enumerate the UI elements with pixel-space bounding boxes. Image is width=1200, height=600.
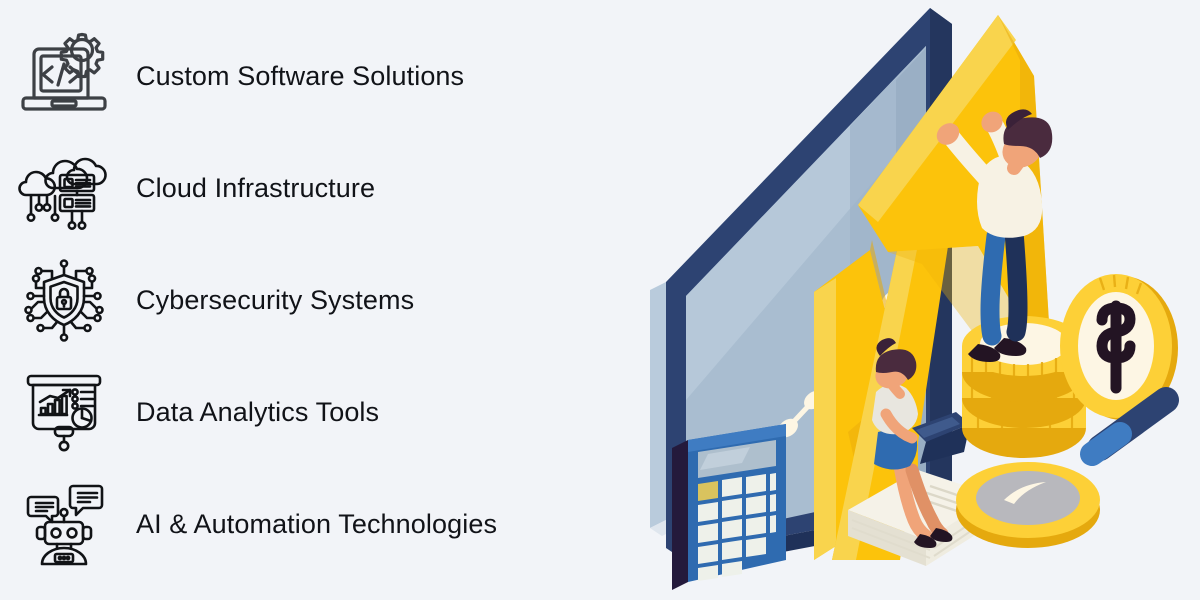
feature-label: Cybersecurity Systems bbox=[136, 285, 414, 316]
presentation-chart-icon bbox=[10, 362, 118, 462]
laptop-code-gear-icon bbox=[10, 26, 118, 126]
feature-item-cybersecurity[interactable]: Cybersecurity Systems bbox=[10, 244, 600, 356]
feature-item-data-analytics[interactable]: Data Analytics Tools bbox=[10, 356, 600, 468]
isometric-business-growth-illustration bbox=[600, 0, 1200, 600]
feature-label: AI & Automation Technologies bbox=[136, 509, 497, 540]
feature-label: Custom Software Solutions bbox=[136, 61, 464, 92]
feature-item-cloud-infrastructure[interactable]: Cloud Infrastructure bbox=[10, 132, 600, 244]
feature-item-custom-software[interactable]: Custom Software Solutions bbox=[10, 20, 600, 132]
feature-label: Data Analytics Tools bbox=[136, 397, 379, 428]
chatbot-robot-icon bbox=[10, 474, 118, 574]
cloud-server-icon bbox=[10, 138, 118, 238]
feature-item-ai-automation[interactable]: AI & Automation Technologies bbox=[10, 468, 600, 580]
feature-label: Cloud Infrastructure bbox=[136, 173, 375, 204]
shield-lock-circuit-icon bbox=[10, 250, 118, 350]
page-root: Custom Software Solutions bbox=[0, 0, 1200, 600]
calculator bbox=[672, 424, 786, 590]
feature-list: Custom Software Solutions bbox=[0, 0, 600, 600]
